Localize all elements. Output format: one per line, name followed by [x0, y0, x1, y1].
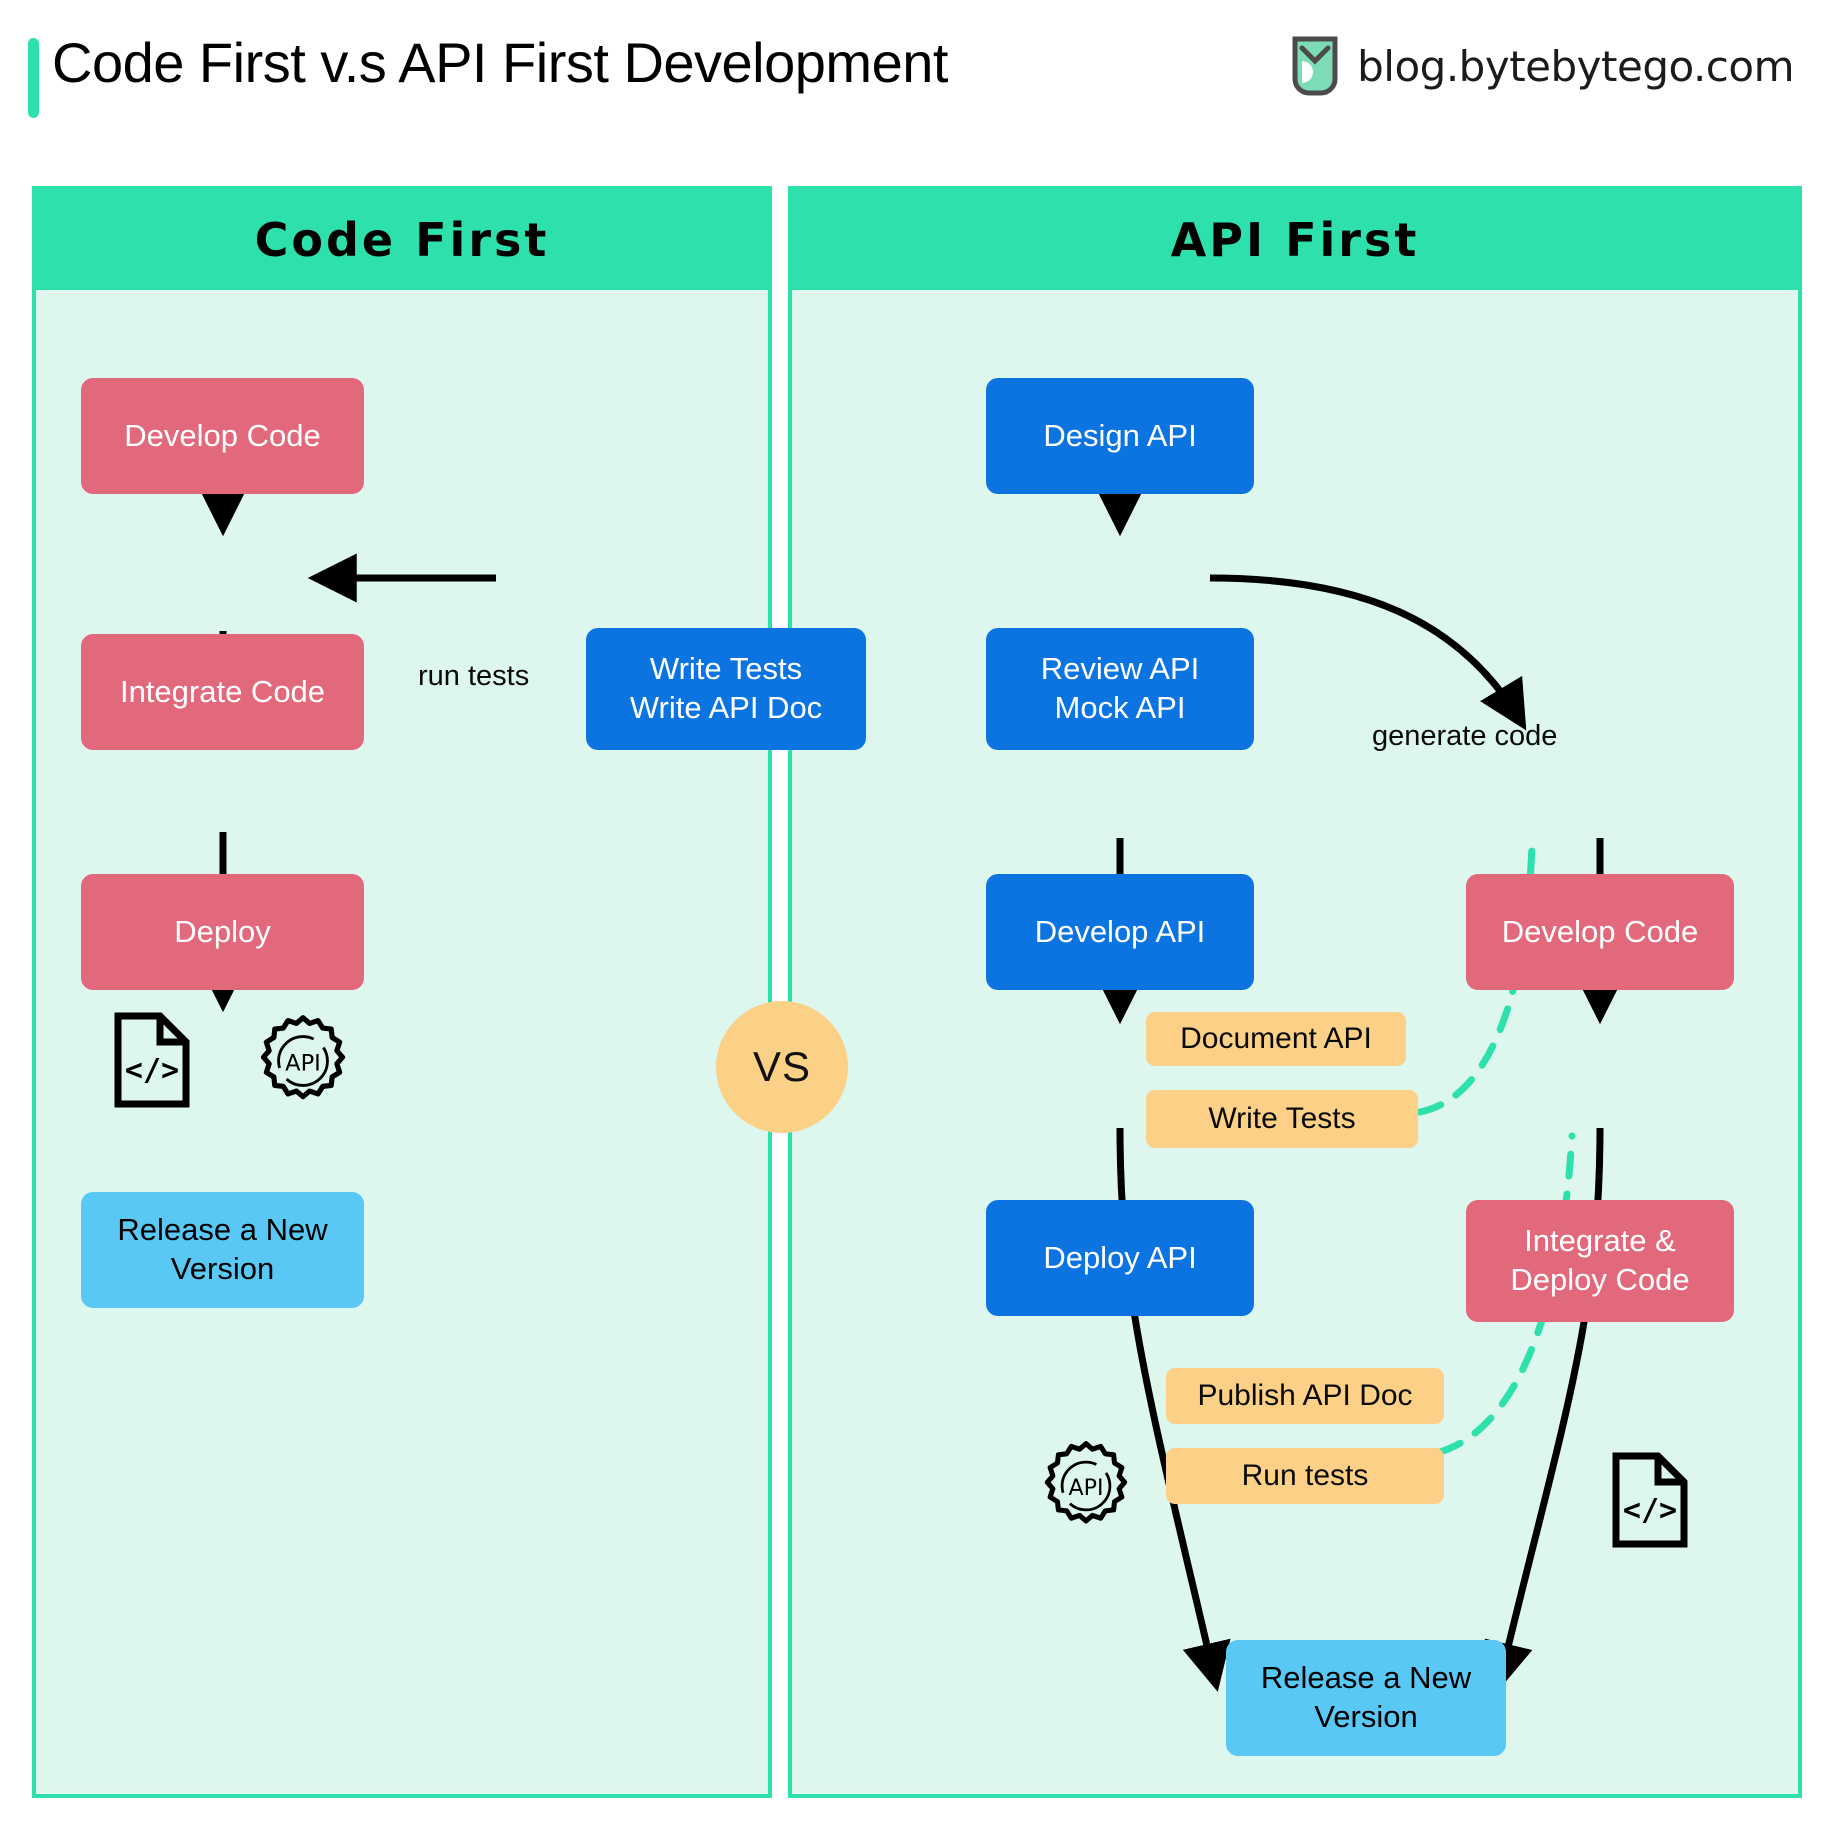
bytebytego-logo-icon	[1289, 35, 1341, 97]
svg-text:API: API	[285, 1050, 321, 1076]
node-release-new-version-left[interactable]: Release a New Version	[81, 1192, 364, 1308]
node-label: Release a New Version	[117, 1211, 327, 1289]
node-label: Deploy API	[1043, 1239, 1196, 1278]
pill-label: Run tests	[1242, 1459, 1369, 1493]
node-develop-code-right[interactable]: Develop Code	[1466, 874, 1734, 990]
edge-label-text: run tests	[418, 660, 529, 692]
node-label: Develop Code	[1502, 913, 1698, 952]
node-label: Release a New Version	[1261, 1659, 1471, 1737]
code-file-icon: </>	[1612, 1452, 1688, 1553]
pill-publish-api-doc: Publish API Doc	[1166, 1368, 1444, 1424]
node-label: Develop Code	[124, 417, 320, 456]
node-review-api-mock-api[interactable]: Review API Mock API	[986, 628, 1254, 750]
node-develop-api[interactable]: Develop API	[986, 874, 1254, 990]
pill-document-api: Document API	[1146, 1012, 1406, 1066]
brand-text: blog.bytebytego.com	[1357, 42, 1794, 91]
node-label: Deploy	[174, 913, 271, 952]
node-label: Integrate Code	[120, 673, 325, 712]
node-integrate-code[interactable]: Integrate Code	[81, 634, 364, 750]
svg-text:</>: </>	[1623, 1493, 1677, 1528]
brand: blog.bytebytego.com	[1289, 35, 1794, 97]
pill-write-tests: Write Tests	[1146, 1090, 1418, 1148]
api-gear-icon: API	[256, 1014, 350, 1113]
panel-api-first-title: API First	[1171, 213, 1420, 267]
node-release-new-version-right[interactable]: Release a New Version	[1226, 1640, 1506, 1756]
node-integrate-deploy-code[interactable]: Integrate & Deploy Code	[1466, 1200, 1734, 1322]
panel-api-first-header: API First	[792, 190, 1798, 290]
page-header: Code First v.s API First Development blo…	[0, 0, 1834, 170]
page-title: Code First v.s API First Development	[52, 30, 948, 95]
svg-text:API: API	[1069, 1476, 1104, 1501]
svg-text:</>: </>	[125, 1053, 179, 1088]
node-label: Write Tests Write API Doc	[630, 650, 822, 728]
panel-api-first: API First	[788, 186, 1802, 1798]
node-label: Review API Mock API	[1041, 650, 1200, 728]
edge-label-run-tests: run tests	[418, 660, 529, 693]
vs-label: VS	[753, 1043, 811, 1091]
title-accent-bar	[28, 38, 39, 118]
pill-label: Write Tests	[1208, 1102, 1355, 1136]
pill-label: Document API	[1180, 1022, 1372, 1056]
node-label: Develop API	[1035, 913, 1206, 952]
node-develop-code-left[interactable]: Develop Code	[81, 378, 364, 494]
edge-label-text: generate code	[1372, 720, 1557, 752]
vs-badge: VS	[716, 1001, 848, 1133]
node-design-api[interactable]: Design API	[986, 378, 1254, 494]
node-deploy[interactable]: Deploy	[81, 874, 364, 990]
panel-code-first-header: Code First	[36, 190, 768, 290]
edge-label-generate-code: generate code	[1372, 720, 1557, 753]
pill-label: Publish API Doc	[1197, 1379, 1412, 1413]
node-write-tests-write-api-doc[interactable]: Write Tests Write API Doc	[586, 628, 866, 750]
api-gear-icon: API	[1040, 1440, 1132, 1537]
code-file-icon: </>	[114, 1012, 190, 1113]
node-deploy-api[interactable]: Deploy API	[986, 1200, 1254, 1316]
node-label: Integrate & Deploy Code	[1510, 1222, 1689, 1300]
panel-code-first-title: Code First	[255, 213, 550, 267]
pill-run-tests: Run tests	[1166, 1448, 1444, 1504]
node-label: Design API	[1043, 417, 1196, 456]
